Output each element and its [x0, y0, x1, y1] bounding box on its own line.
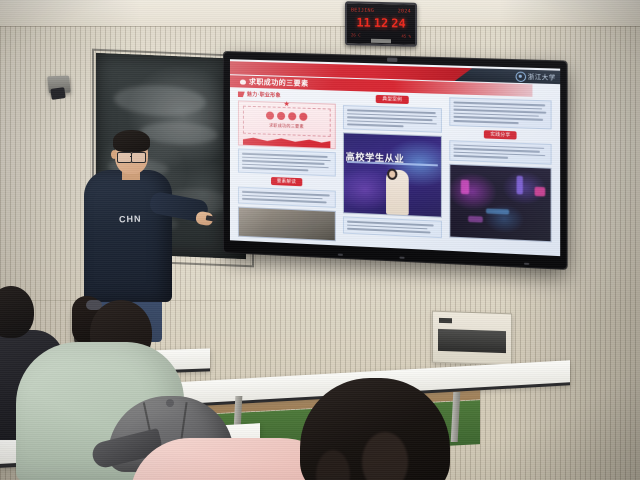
glasses-bridge — [130, 156, 132, 157]
slide-title-group: 求职成功的三要素 — [240, 76, 309, 88]
photo-thumbnail — [238, 206, 336, 241]
classroom-photo: BEIJING 2024 11 12 24 26 C 45 % — [0, 0, 640, 480]
sweatshirt-logo: CHN — [119, 214, 142, 225]
lecturer-torso — [84, 170, 172, 302]
cert-dot-icon — [277, 112, 285, 120]
text-block — [238, 187, 336, 208]
certificate-graphic: ★ 求职成功的三要素 — [238, 100, 336, 149]
clock-temperature: 26 C — [351, 31, 361, 38]
university-mark-icon — [515, 71, 526, 82]
lecturer-hair — [113, 130, 150, 152]
star-icon: ★ — [283, 101, 289, 108]
wall-mounted-display[interactable]: 浙江大学 求职成功的三要素 魅力·职业形象 — [224, 52, 567, 269]
section-badge: 实践分享 — [484, 130, 517, 139]
text-block — [450, 97, 552, 129]
slide-columns: 魅力·职业形象 ★ — [238, 90, 552, 251]
cert-dot-icon — [266, 111, 274, 119]
panel-indicator-icon — [439, 318, 452, 323]
clock-humidity: 45 % — [401, 32, 411, 39]
glasses-icon — [131, 152, 146, 163]
section-heading-text: 魅力·职业形象 — [247, 91, 281, 99]
text-block — [343, 105, 443, 133]
right-column: 实践分享 — [450, 97, 552, 251]
text-block — [450, 140, 552, 165]
speaker-icon — [50, 87, 65, 100]
university-logo: 浙江大学 — [515, 70, 556, 83]
text-block — [238, 149, 336, 177]
section-badge: 要素解读 — [271, 177, 302, 186]
clock-hours: 11 — [356, 15, 370, 29]
cap-button-icon — [166, 399, 174, 407]
wall-control-panel[interactable] — [432, 311, 512, 366]
panel-vent — [438, 329, 506, 353]
tv-screen: 浙江大学 求职成功的三要素 魅力·职业形象 — [230, 59, 560, 256]
left-column: 魅力·职业形象 ★ — [238, 90, 336, 241]
cert-dot-icon — [288, 112, 296, 120]
clock-seconds: 24 — [391, 16, 405, 30]
clock-brand-label — [371, 39, 391, 43]
clock-top-right: 2024 — [398, 7, 411, 15]
glasses-icon — [117, 152, 132, 163]
tv-power-button[interactable] — [524, 263, 529, 265]
university-logo-text: 浙江大学 — [528, 72, 556, 82]
camera-icon — [387, 58, 397, 62]
slide-title: 求职成功的三要素 — [249, 77, 309, 89]
presentation-slide: 浙江大学 求职成功的三要素 魅力·职业形象 — [230, 59, 560, 256]
stage-person-face — [389, 171, 395, 178]
certificate-caption: 求职成功的三要素 — [247, 122, 326, 131]
middle-column: 典型案例 高校学生从业 — [343, 94, 443, 247]
tv-assembly: 浙江大学 求职成功的三要素 魅力·职业形象 — [224, 52, 556, 262]
flag-icon — [238, 91, 245, 97]
certificate-wave — [243, 136, 330, 148]
text-block — [343, 216, 443, 238]
stage-photo: 高校学生从业 — [343, 132, 443, 217]
clock-minutes: 12 — [374, 15, 388, 29]
cert-dot-icon — [299, 113, 307, 121]
section-heading: 魅力·职业形象 — [238, 90, 336, 100]
tv-button[interactable] — [399, 257, 404, 259]
section-badge: 典型案例 — [376, 95, 408, 104]
led-wall-clock: BEIJING 2024 11 12 24 26 C 45 % — [345, 1, 417, 47]
bullet-icon — [240, 79, 246, 84]
event-photo — [450, 164, 552, 242]
tv-button[interactable] — [338, 254, 343, 256]
